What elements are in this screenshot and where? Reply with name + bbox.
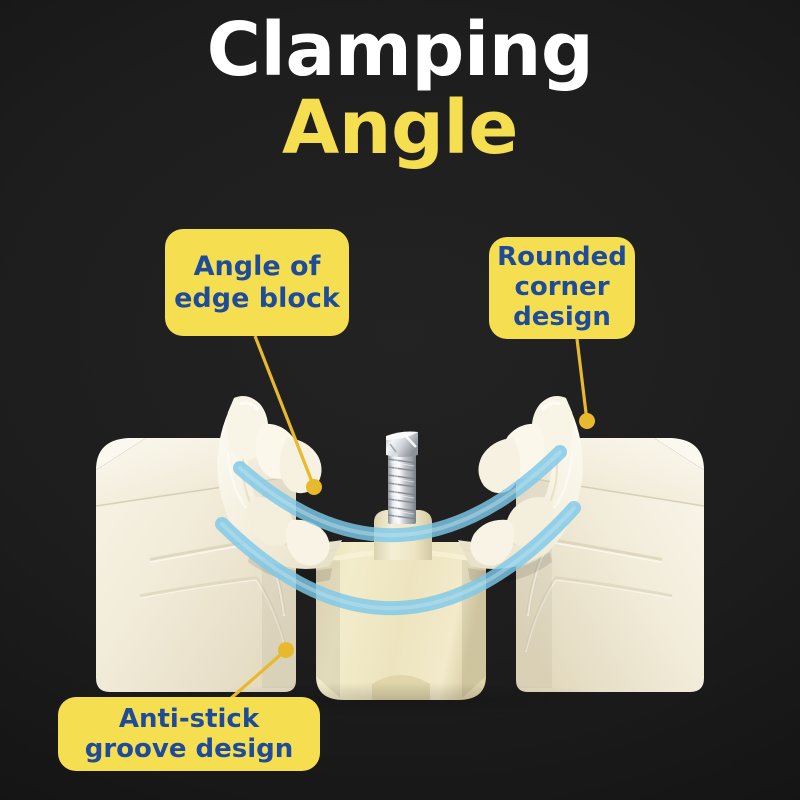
page-title: Clamping Angle [0, 14, 800, 166]
callout-label-anti-stick-groove-design: Anti-stick groove design [85, 704, 294, 764]
callout-badge-angle-of-edge-block[interactable]: Angle of edge block [165, 229, 349, 336]
leader-rounded-corner-design [577, 339, 595, 429]
callout-label-rounded-corner-design: Rounded corner design [497, 243, 627, 333]
title-line-accent: Angle [0, 91, 800, 166]
product-feature-graphic: Clamping Angle [0, 0, 800, 800]
leader-anti-stick-groove-design [229, 642, 294, 700]
callout-badge-rounded-corner-design[interactable]: Rounded corner design [489, 237, 635, 339]
leader-angle-of-edge-block [255, 336, 322, 495]
title-line-primary: Clamping [0, 14, 800, 87]
callout-badge-anti-stick-groove-design[interactable]: Anti-stick groove design [58, 697, 320, 771]
callout-label-angle-of-edge-block: Angle of edge block [174, 251, 340, 314]
